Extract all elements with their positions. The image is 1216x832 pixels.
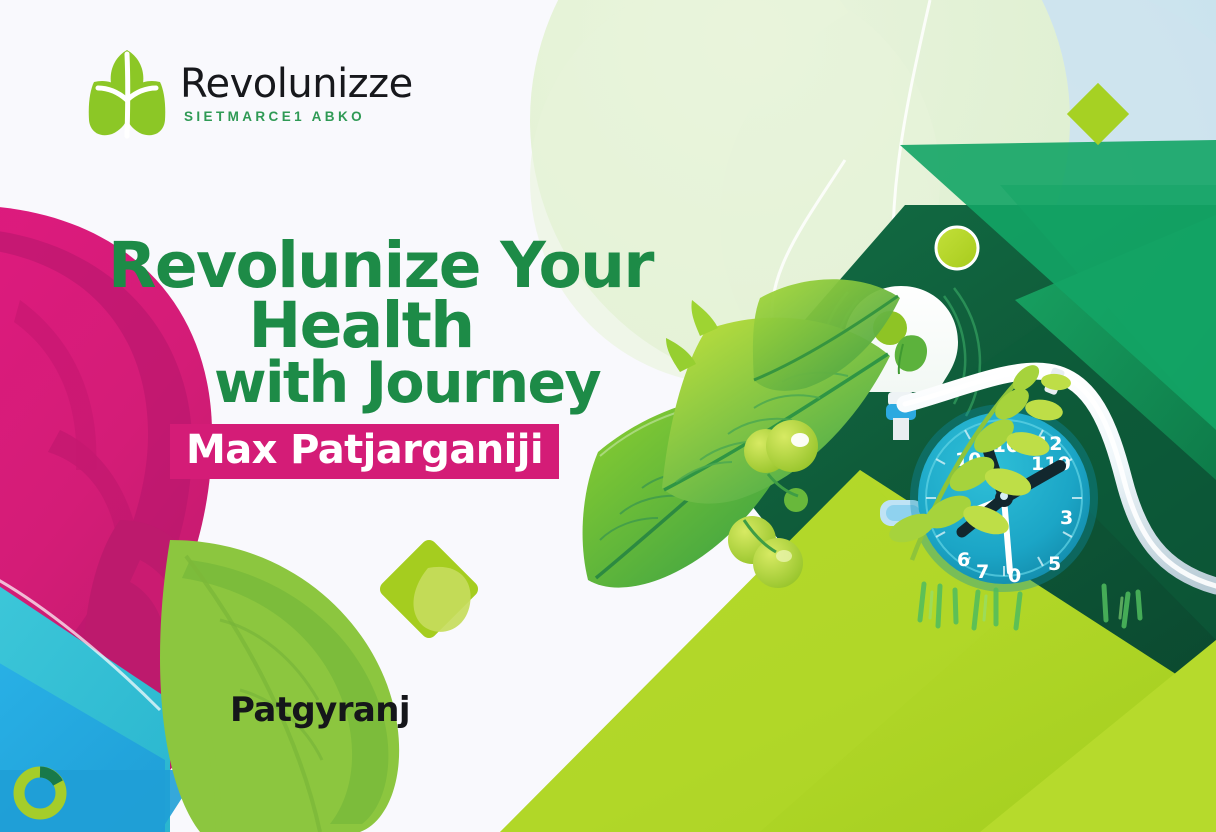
headline-line-2: Health (108, 296, 688, 356)
badge-wrapper: Max Patjarganiji (108, 424, 688, 479)
clock-numeral-6: 6 (957, 549, 970, 571)
brand-name: Revolunizze (180, 64, 413, 104)
footer-wordmark: Patgyranj (230, 690, 410, 730)
brand-logo[interactable]: Revolunizze SIETMARCE1 ABKO (88, 48, 413, 140)
trefoil-leaf-icon (88, 48, 166, 140)
headline-block: Revolunize Your Health with Journey Max … (108, 236, 688, 479)
poster-canvas: 10 12 110 10 9 3 6 7 5 0 (0, 0, 1216, 832)
grass-blades-highlight (930, 592, 1122, 620)
headline-line-3: with Journey (108, 356, 688, 410)
status-badge[interactable]: Max Patjarganiji (170, 424, 559, 479)
headline-line-1: Revolunize Your (108, 236, 688, 296)
grass-blades (920, 584, 1140, 628)
brand-tagline: SIETMARCE1 ABKO (184, 110, 413, 124)
clock-numeral-3: 3 (1060, 507, 1073, 529)
clock-numeral-5: 5 (1048, 553, 1061, 575)
clock-numeral-7: 7 (976, 561, 989, 583)
